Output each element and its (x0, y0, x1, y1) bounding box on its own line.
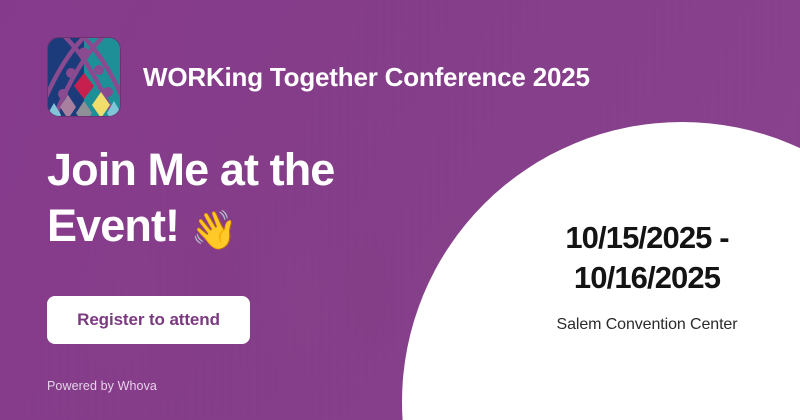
conference-logo-icon (47, 37, 121, 117)
hero-headline: Join Me at the Event! 👋 (47, 142, 427, 255)
register-to-attend-button[interactable]: Register to attend (47, 296, 250, 344)
event-dates: 10/15/2025 - 10/16/2025 (497, 218, 797, 297)
event-banner: WORKing Together Conference 2025 Join Me… (0, 0, 800, 420)
headline-line-2: Event! (47, 200, 179, 251)
waving-hand-icon: 👋 (191, 210, 237, 252)
conference-title: WORKing Together Conference 2025 (143, 62, 590, 93)
event-venue: Salem Convention Center (497, 316, 797, 334)
headline-line-1: Join Me at the (47, 144, 334, 195)
powered-by-label: Powered by Whova (47, 379, 157, 393)
banner-header: WORKing Together Conference 2025 (47, 37, 590, 117)
event-info-panel: 10/15/2025 - 10/16/2025 Salem Convention… (497, 218, 797, 334)
